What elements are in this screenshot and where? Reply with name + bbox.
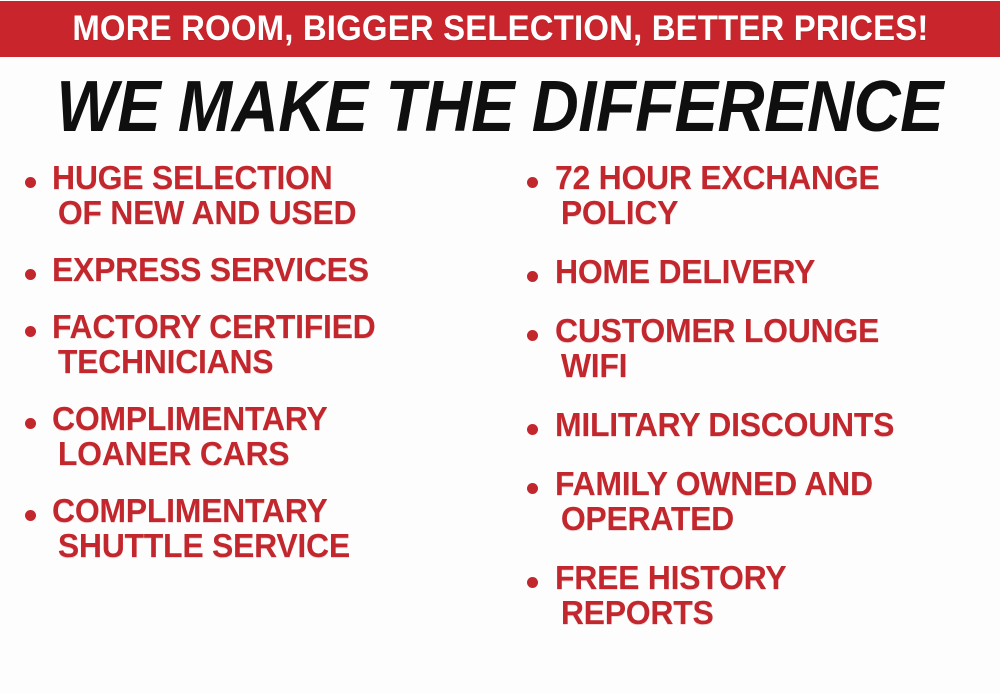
list-item: HUGE SELECTION OF NEW AND USED bbox=[18, 160, 498, 230]
page-title: WE MAKE THE DIFFERENCE bbox=[57, 69, 944, 144]
list-item: FACTORY CERTIFIED TECHNICIANS bbox=[18, 309, 498, 379]
list-item: COMPLIMENTARY LOANER CARS bbox=[18, 401, 498, 471]
benefit-text: FACTORY CERTIFIED TECHNICIANS bbox=[52, 309, 485, 379]
list-item: MILITARY DISCOUNTS bbox=[518, 407, 1000, 442]
list-item: FAMILY OWNED AND OPERATED bbox=[518, 466, 1000, 536]
benefit-line-1: HOME DELIVERY bbox=[555, 253, 815, 290]
benefit-text: FAMILY OWNED AND OPERATED bbox=[555, 466, 987, 536]
benefit-line-1: COMPLIMENTARY bbox=[52, 492, 327, 529]
benefits-columns: HUGE SELECTION OF NEW AND USED EXPRESS S… bbox=[0, 160, 1000, 694]
list-item: 72 HOUR EXCHANGE POLICY bbox=[518, 160, 1000, 230]
benefit-text: MILITARY DISCOUNTS bbox=[555, 407, 987, 442]
benefit-line-1: CUSTOMER LOUNGE bbox=[555, 312, 879, 349]
list-item: EXPRESS SERVICES bbox=[18, 252, 498, 287]
benefit-text: EXPRESS SERVICES bbox=[52, 252, 485, 287]
bullet-dot-icon bbox=[527, 424, 538, 435]
benefit-line-1: MILITARY DISCOUNTS bbox=[555, 406, 894, 443]
banner-headline-text: MORE ROOM, BIGGER SELECTION, BETTER PRIC… bbox=[72, 11, 928, 47]
benefit-line-2: WIFI bbox=[555, 348, 987, 383]
benefit-text: HOME DELIVERY bbox=[555, 254, 987, 289]
benefit-line-2: TECHNICIANS bbox=[52, 344, 485, 379]
main-headline-area: WE MAKE THE DIFFERENCE bbox=[0, 64, 1000, 148]
benefit-text: 72 HOUR EXCHANGE POLICY bbox=[555, 160, 987, 230]
benefit-line-2: LOANER CARS bbox=[52, 436, 485, 471]
benefits-column-right: 72 HOUR EXCHANGE POLICY HOME DELIVERY CU… bbox=[518, 160, 1000, 654]
bullet-dot-icon bbox=[527, 177, 538, 188]
benefit-line-1: FREE HISTORY bbox=[555, 559, 786, 596]
benefit-text: COMPLIMENTARY SHUTTLE SERVICE bbox=[52, 493, 485, 563]
bullet-dot-icon bbox=[25, 269, 36, 280]
top-banner: MORE ROOM, BIGGER SELECTION, BETTER PRIC… bbox=[0, 1, 1000, 57]
benefit-line-1: FAMILY OWNED AND bbox=[555, 465, 873, 502]
bullet-dot-icon bbox=[527, 483, 538, 494]
benefit-line-2: POLICY bbox=[555, 195, 987, 230]
benefit-line-2: OPERATED bbox=[555, 501, 987, 536]
list-item: CUSTOMER LOUNGE WIFI bbox=[518, 313, 1000, 383]
list-item: HOME DELIVERY bbox=[518, 254, 1000, 289]
list-item: COMPLIMENTARY SHUTTLE SERVICE bbox=[18, 493, 498, 563]
benefit-text: FREE HISTORY REPORTS bbox=[555, 560, 987, 630]
benefit-line-2: OF NEW AND USED bbox=[52, 195, 485, 230]
bullet-dot-icon bbox=[527, 577, 538, 588]
benefit-text: CUSTOMER LOUNGE WIFI bbox=[555, 313, 987, 383]
promo-poster: MORE ROOM, BIGGER SELECTION, BETTER PRIC… bbox=[0, 0, 1000, 694]
benefit-line-1: COMPLIMENTARY bbox=[52, 400, 327, 437]
benefits-column-left: HUGE SELECTION OF NEW AND USED EXPRESS S… bbox=[18, 160, 498, 585]
list-item: FREE HISTORY REPORTS bbox=[518, 560, 1000, 630]
bullet-dot-icon bbox=[527, 330, 538, 341]
benefit-line-1: EXPRESS SERVICES bbox=[52, 251, 369, 288]
benefit-line-2: SHUTTLE SERVICE bbox=[52, 528, 485, 563]
benefit-line-2: REPORTS bbox=[555, 595, 987, 630]
benefit-text: COMPLIMENTARY LOANER CARS bbox=[52, 401, 485, 471]
benefit-line-1: HUGE SELECTION bbox=[52, 159, 332, 196]
benefit-line-1: FACTORY CERTIFIED bbox=[52, 308, 375, 345]
bullet-dot-icon bbox=[25, 418, 36, 429]
bullet-dot-icon bbox=[25, 177, 36, 188]
bullet-dot-icon bbox=[25, 510, 36, 521]
bullet-dot-icon bbox=[25, 326, 36, 337]
benefit-line-1: 72 HOUR EXCHANGE bbox=[555, 159, 879, 196]
benefit-text: HUGE SELECTION OF NEW AND USED bbox=[52, 160, 485, 230]
bullet-dot-icon bbox=[527, 271, 538, 282]
